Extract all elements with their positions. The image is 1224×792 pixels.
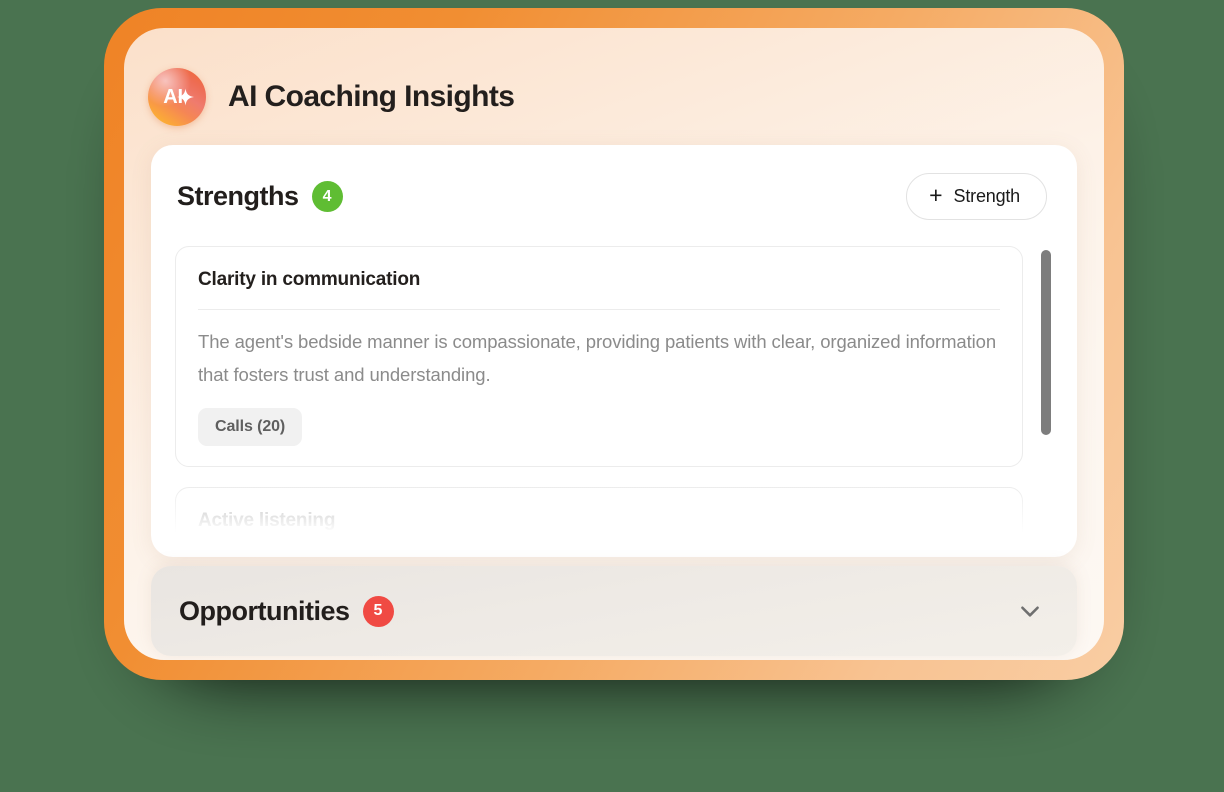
device-screen: AI AI Coaching Insights Strengths 4 +	[124, 28, 1104, 660]
calls-chip[interactable]: Calls (20)	[198, 408, 302, 446]
add-strength-label: Strength	[954, 186, 1020, 207]
strength-card[interactable]: Clarity in communication The agent's bed…	[175, 246, 1023, 467]
chevron-down-icon[interactable]	[1017, 598, 1043, 624]
strengths-count-badge: 4	[312, 181, 343, 212]
opportunities-count-badge: 5	[363, 596, 394, 627]
page-title: AI Coaching Insights	[228, 80, 514, 114]
screenshot-stage: AI AI Coaching Insights Strengths 4 +	[0, 0, 1224, 792]
strength-card-body: The agent's bedside manner is compassion…	[198, 326, 1000, 392]
opportunities-section[interactable]: Opportunities 5	[151, 566, 1077, 656]
strength-card-title: Clarity in communication	[198, 269, 1000, 291]
opportunities-title-group: Opportunities 5	[179, 596, 394, 627]
strengths-scroll-area: Clarity in communication The agent's bed…	[175, 246, 1053, 546]
sparkle-icon	[177, 89, 194, 106]
strengths-panel: Strengths 4 + Strength Clarity in commun…	[151, 145, 1077, 557]
divider	[198, 309, 1000, 310]
strengths-scrollbar[interactable]	[1041, 246, 1051, 546]
scrollbar-thumb[interactable]	[1041, 250, 1051, 435]
add-strength-button[interactable]: + Strength	[906, 173, 1047, 220]
ai-logo: AI	[148, 68, 206, 126]
strengths-header: Strengths 4 + Strength	[175, 173, 1053, 220]
plus-icon: +	[929, 184, 942, 207]
strengths-title: Strengths	[177, 181, 299, 212]
opportunities-title: Opportunities	[179, 596, 350, 627]
strength-card[interactable]: Active listening	[175, 487, 1023, 546]
strengths-title-group: Strengths 4	[177, 181, 343, 212]
app-header: AI AI Coaching Insights	[124, 28, 1104, 126]
strengths-list: Clarity in communication The agent's bed…	[175, 246, 1053, 546]
strength-card-title: Active listening	[198, 510, 1000, 532]
device-frame: AI AI Coaching Insights Strengths 4 +	[104, 8, 1124, 680]
